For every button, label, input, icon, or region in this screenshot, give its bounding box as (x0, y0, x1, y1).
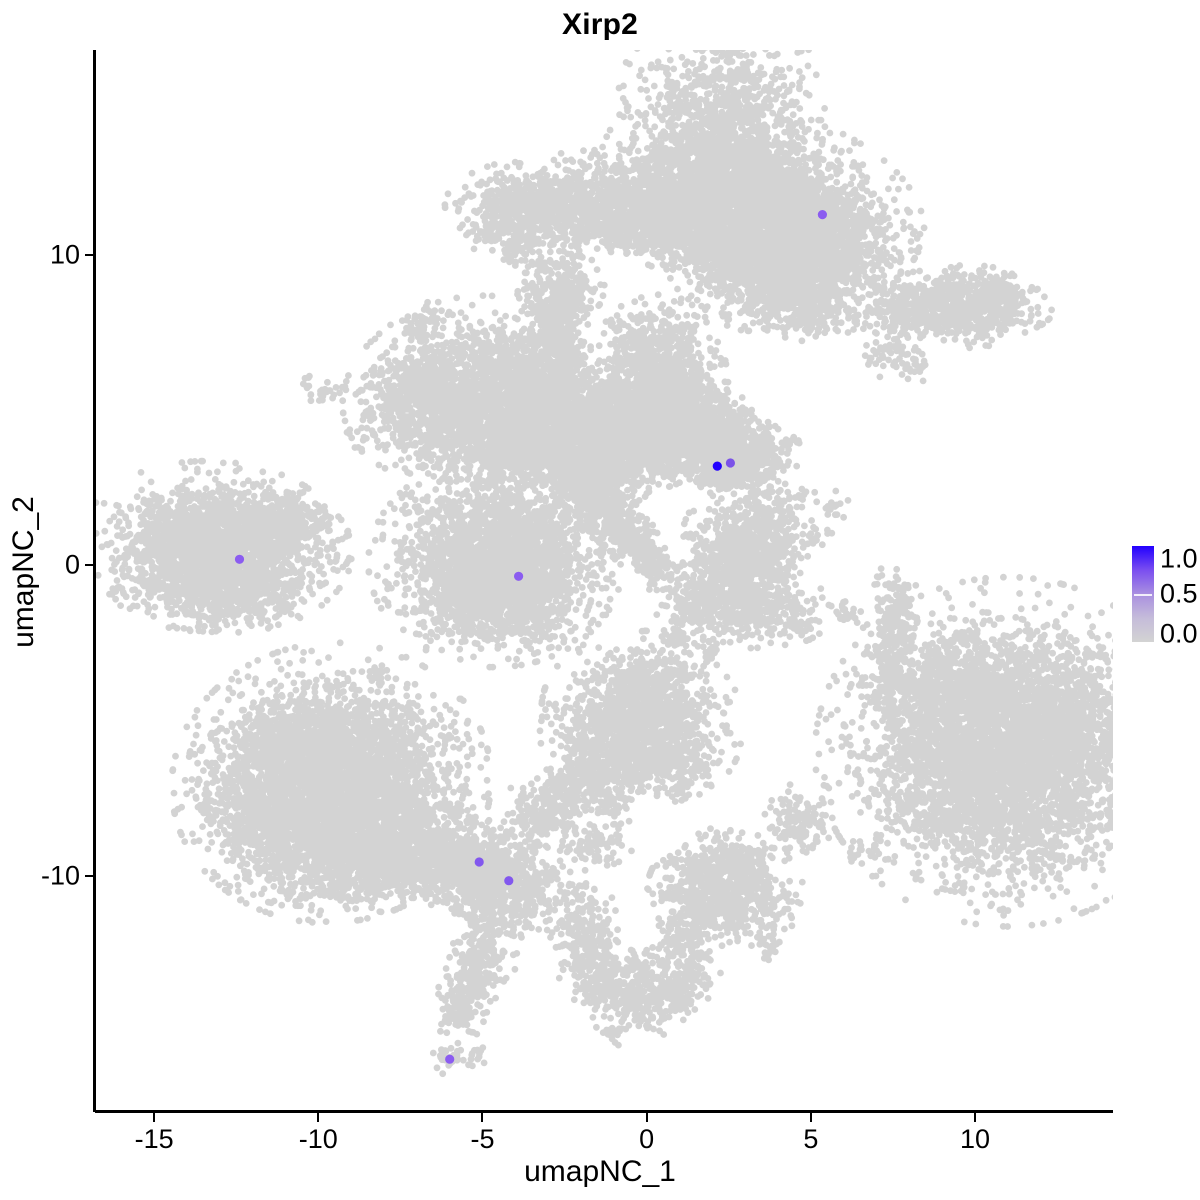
x-tick-label: -5 (470, 1124, 494, 1155)
data-point (514, 572, 523, 581)
y-axis-line (93, 50, 96, 1112)
feature-plot-figure: Xirp2 -15-10-50510 100-10 umapNC_1 umapN… (0, 0, 1200, 1200)
x-tick-mark (974, 1113, 976, 1122)
colorbar-tick-label: 0.0 (1160, 619, 1198, 650)
data-point (818, 210, 827, 219)
data-point (713, 462, 722, 471)
x-axis-label: umapNC_1 (0, 1155, 1200, 1189)
y-axis-label: umapNC_2 (7, 472, 41, 672)
colorbar-legend: 1.00.50.0 (1132, 546, 1198, 644)
x-tick-mark (317, 1113, 319, 1122)
scatter-canvas (95, 50, 1113, 1112)
x-tick-mark (153, 1113, 155, 1122)
y-tick-mark (85, 564, 94, 566)
page-title: Xirp2 (0, 8, 1200, 42)
x-tick-label: 0 (639, 1124, 654, 1155)
x-tick-label: 10 (960, 1124, 990, 1155)
y-tick-mark (85, 875, 94, 877)
y-tick-label: 10 (50, 239, 80, 270)
background-points (95, 50, 1113, 1077)
x-axis-line (95, 1110, 1113, 1113)
data-point (475, 857, 484, 866)
x-tick-label: -15 (135, 1124, 174, 1155)
data-point (504, 876, 513, 885)
x-tick-label: 5 (803, 1124, 818, 1155)
data-point (235, 555, 244, 564)
plot-panel (95, 50, 1113, 1112)
x-tick-mark (481, 1113, 483, 1122)
data-point (445, 1055, 454, 1064)
y-tick-mark (85, 254, 94, 256)
y-tick-label: 0 (65, 550, 80, 581)
y-tick-label: -10 (41, 861, 80, 892)
x-tick-label: -10 (299, 1124, 338, 1155)
colorbar-tick-mark (1134, 594, 1152, 596)
colorbar-tick-label: 0.5 (1160, 579, 1198, 610)
x-tick-mark (810, 1113, 812, 1122)
data-point (726, 458, 735, 467)
x-tick-mark (646, 1113, 648, 1122)
colorbar-tick-label: 1.0 (1160, 544, 1198, 575)
